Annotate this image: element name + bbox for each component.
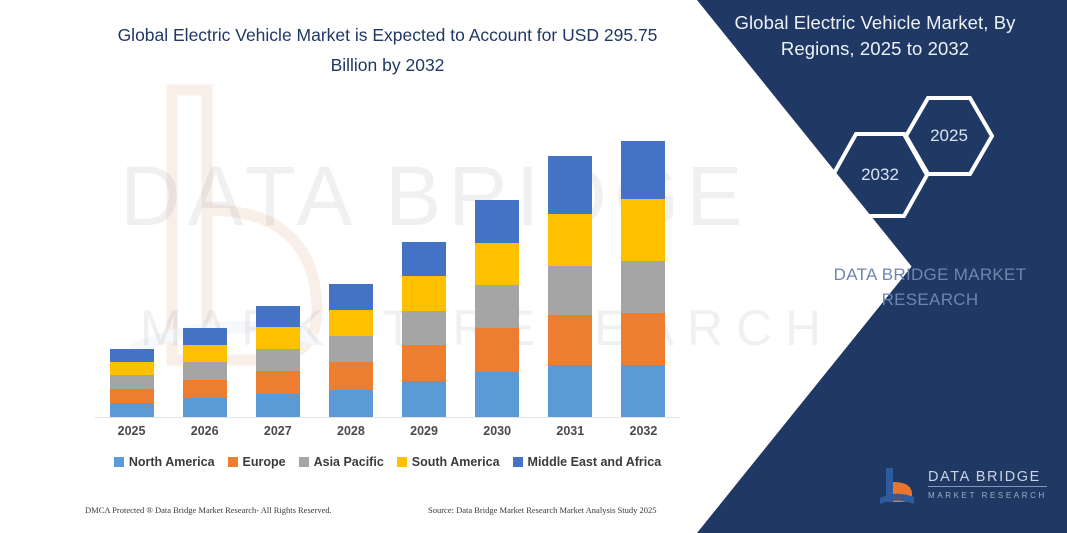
footer: DMCA Protected ® Data Bridge Market Rese… — [0, 505, 690, 527]
x-axis-tick-label: 2029 — [388, 424, 461, 438]
bar-column — [607, 110, 680, 417]
bar-segment — [256, 306, 300, 327]
stacked-bar[interactable] — [475, 200, 519, 417]
bar-segment — [110, 403, 154, 417]
bar-segment — [621, 261, 665, 313]
bar-segment — [548, 365, 592, 417]
bar-segment — [110, 375, 154, 388]
bar-segment — [402, 242, 446, 276]
bar-segment — [402, 276, 446, 311]
legend-swatch-icon — [397, 457, 407, 467]
stacked-bar[interactable] — [329, 284, 373, 417]
bar-segment — [183, 380, 227, 399]
bar-segment — [256, 327, 300, 349]
x-axis-tick-label: 2025 — [95, 424, 168, 438]
bar-segment — [621, 199, 665, 261]
bar-segment — [475, 328, 519, 372]
bar-segment — [183, 362, 227, 380]
panel-brand-line2: RESEARCH — [795, 287, 1065, 312]
bar-column — [314, 110, 387, 417]
panel-title: Global Electric Vehicle Market, By Regio… — [695, 10, 1055, 62]
bar-column — [241, 110, 314, 417]
bar-segment — [110, 389, 154, 403]
panel-brand-name: DATA BRIDGE MARKET RESEARCH — [795, 262, 1065, 312]
bar-segment — [548, 214, 592, 266]
bar-segment — [475, 200, 519, 243]
stacked-bar[interactable] — [183, 328, 227, 417]
x-axis-line — [95, 417, 680, 418]
legend-item[interactable]: Europe — [228, 455, 286, 469]
hexagon-2025-label: 2025 — [903, 126, 995, 146]
bar-segment — [621, 313, 665, 366]
bar-segment — [183, 398, 227, 417]
legend-item[interactable]: South America — [397, 455, 500, 469]
bar-segment — [621, 141, 665, 199]
legend-item[interactable]: Middle East and Africa — [513, 455, 662, 469]
stacked-bar[interactable] — [621, 141, 665, 417]
bar-column — [168, 110, 241, 417]
bar-column — [461, 110, 534, 417]
panel-brand-line1: DATA BRIDGE MARKET — [795, 262, 1065, 287]
bar-segment — [402, 345, 446, 381]
bar-column — [534, 110, 607, 417]
x-axis-tick-label: 2032 — [607, 424, 680, 438]
bar-segment — [183, 328, 227, 344]
bar-segment — [256, 371, 300, 394]
bar-segment — [110, 362, 154, 375]
stacked-bar[interactable] — [402, 242, 446, 417]
x-axis-labels: 20252026202720282029203020312032 — [95, 424, 680, 438]
legend-label: Middle East and Africa — [528, 455, 662, 469]
stacked-bar[interactable] — [110, 349, 154, 417]
bar-column — [388, 110, 461, 417]
legend-item[interactable]: North America — [114, 455, 215, 469]
bar-segment — [256, 349, 300, 371]
bar-segment — [329, 310, 373, 336]
logo-text-line2: MARKET RESEARCH — [928, 489, 1047, 503]
bar-segment — [548, 266, 592, 315]
footer-source: Source: Data Bridge Market Research Mark… — [428, 505, 657, 515]
bar-segment — [329, 284, 373, 309]
stacked-bar-chart — [95, 110, 680, 417]
bar-segment — [110, 349, 154, 362]
bar-segment — [329, 336, 373, 362]
legend-swatch-icon — [228, 457, 238, 467]
footer-copyright: DMCA Protected ® Data Bridge Market Rese… — [85, 505, 332, 515]
legend-label: North America — [129, 455, 215, 469]
bar-segment — [402, 381, 446, 417]
bar-segment — [475, 243, 519, 286]
bar-segment — [402, 311, 446, 345]
company-logo: DATA BRIDGE MARKET RESEARCH — [878, 462, 1058, 510]
data-bridge-logo-icon — [878, 464, 922, 508]
legend-label: Asia Pacific — [314, 455, 384, 469]
stacked-bar[interactable] — [256, 306, 300, 417]
x-axis-tick-label: 2028 — [314, 424, 387, 438]
bar-segment — [548, 156, 592, 214]
stacked-bar[interactable] — [548, 156, 592, 417]
bar-segment — [183, 345, 227, 363]
bar-segment — [475, 285, 519, 328]
bar-segment — [256, 394, 300, 417]
legend-swatch-icon — [114, 457, 124, 467]
legend-swatch-icon — [299, 457, 309, 467]
hexagon-2025: 2025 — [903, 95, 995, 177]
bar-column — [95, 110, 168, 417]
x-axis-tick-label: 2031 — [534, 424, 607, 438]
hexagon-group: 2032 2025 — [820, 95, 1000, 220]
logo-text-line1: DATA BRIDGE — [928, 469, 1047, 487]
bar-segment — [475, 372, 519, 417]
x-axis-tick-label: 2026 — [168, 424, 241, 438]
bar-segment — [329, 362, 373, 389]
legend-label: South America — [412, 455, 500, 469]
chart-title: Global Electric Vehicle Market is Expect… — [95, 20, 680, 80]
x-axis-tick-label: 2030 — [461, 424, 534, 438]
bar-segment — [621, 365, 665, 417]
bar-segment — [329, 390, 373, 417]
bar-segment — [548, 315, 592, 365]
chart-legend: North AmericaEuropeAsia PacificSouth Ame… — [95, 455, 680, 469]
legend-label: Europe — [243, 455, 286, 469]
legend-swatch-icon — [513, 457, 523, 467]
legend-item[interactable]: Asia Pacific — [299, 455, 384, 469]
x-axis-tick-label: 2027 — [241, 424, 314, 438]
